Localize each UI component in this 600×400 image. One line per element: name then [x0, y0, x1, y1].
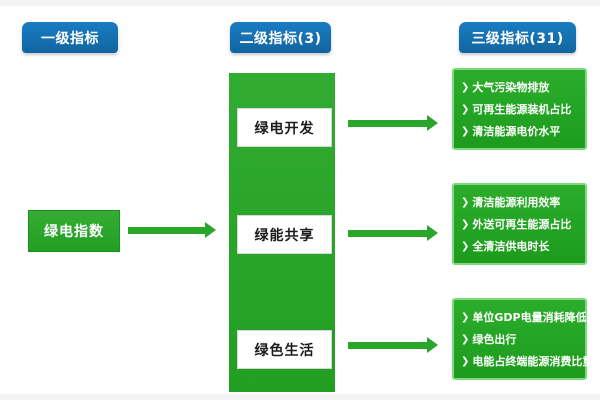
arrow-head: [427, 225, 438, 241]
arrow-head: [427, 337, 438, 353]
header-level-2: 二级指标(3): [230, 22, 331, 53]
bottom-band: [0, 394, 600, 400]
level-2-node-green-power-development: 绿电开发: [237, 108, 332, 147]
indicator-hierarchy-diagram: 一级指标 二级指标(3) 三级指标(31) 绿电指数 绿电开发 绿能共享 绿色生…: [0, 0, 600, 400]
level-3-item-label: 全清洁供电时长: [472, 236, 549, 258]
level-3-group-2: ❯ 清洁能源利用效率 ❯ 外送可再生能源占比 ❯ 全清洁供电时长: [452, 183, 587, 265]
level-1-node: 绿电指数: [28, 210, 120, 252]
chevron-right-icon: ❯: [461, 329, 469, 351]
top-band: [0, 0, 600, 6]
header-level-1: 一级指标: [22, 22, 118, 53]
level-3-item: ❯ 绿色出行: [461, 329, 579, 351]
level-3-item-label: 清洁能源利用效率: [472, 192, 560, 214]
level-3-item: ❯ 清洁能源利用效率: [461, 192, 579, 214]
chevron-right-icon: ❯: [461, 307, 469, 329]
level-3-item: ❯ 全清洁供电时长: [461, 236, 579, 258]
level-3-item: ❯ 清洁能源电价水平: [461, 121, 579, 143]
level-3-group-1: ❯ 大气污染物排放 ❯ 可再生能源装机占比 ❯ 清洁能源电价水平: [452, 68, 587, 150]
level-2-node-green-living: 绿色生活: [237, 330, 332, 369]
level-2-node-label: 绿能共享: [255, 225, 315, 245]
level-3-item-label: 清洁能源电价水平: [472, 121, 560, 143]
header-level-3: 三级指标(31): [459, 22, 576, 53]
chevron-right-icon: ❯: [461, 236, 469, 258]
arrow-shaft: [348, 230, 428, 237]
level-3-item: ❯ 电能占终端能源消费比重: [461, 351, 579, 373]
chevron-right-icon: ❯: [461, 351, 469, 373]
chevron-right-icon: ❯: [461, 77, 469, 99]
level-3-item: ❯ 大气污染物排放: [461, 77, 579, 99]
arrow-level1-to-level2: [128, 225, 216, 235]
arrow-shaft: [128, 227, 206, 234]
level-2-node-label: 绿色生活: [255, 340, 315, 360]
level-3-item: ❯ 外送可再生能源占比: [461, 214, 579, 236]
level-3-item-label: 大气污染物排放: [472, 77, 549, 99]
header-level-2-label: 二级指标(3): [239, 28, 321, 48]
level-3-item-label: 外送可再生能源占比: [472, 214, 571, 236]
arrow-level2-to-level3-1: [348, 118, 438, 128]
level-3-item-label: 绿色出行: [472, 329, 516, 351]
level-3-group-3: ❯ 单位GDP电量消耗降低 ❯ 绿色出行 ❯ 电能占终端能源消费比重: [452, 298, 587, 380]
level-3-item: ❯ 单位GDP电量消耗降低: [461, 307, 579, 329]
header-level-3-label: 三级指标(31): [471, 28, 563, 48]
level-2-node-label: 绿电开发: [255, 118, 315, 138]
level-3-item-label: 单位GDP电量消耗降低: [472, 307, 586, 329]
chevron-right-icon: ❯: [461, 121, 469, 143]
arrow-shaft: [348, 120, 428, 127]
level-3-item-label: 电能占终端能源消费比重: [472, 351, 593, 373]
chevron-right-icon: ❯: [461, 99, 469, 121]
level-2-node-green-energy-sharing: 绿能共享: [237, 215, 332, 254]
arrow-head: [205, 222, 216, 238]
chevron-right-icon: ❯: [461, 214, 469, 236]
level-3-item: ❯ 可再生能源装机占比: [461, 99, 579, 121]
arrow-level2-to-level3-3: [348, 340, 438, 350]
arrow-shaft: [348, 342, 428, 349]
chevron-right-icon: ❯: [461, 192, 469, 214]
level-1-node-label: 绿电指数: [44, 221, 104, 241]
arrow-level2-to-level3-2: [348, 228, 438, 238]
level-3-item-label: 可再生能源装机占比: [472, 99, 571, 121]
header-level-1-label: 一级指标: [41, 28, 99, 48]
arrow-head: [427, 115, 438, 131]
